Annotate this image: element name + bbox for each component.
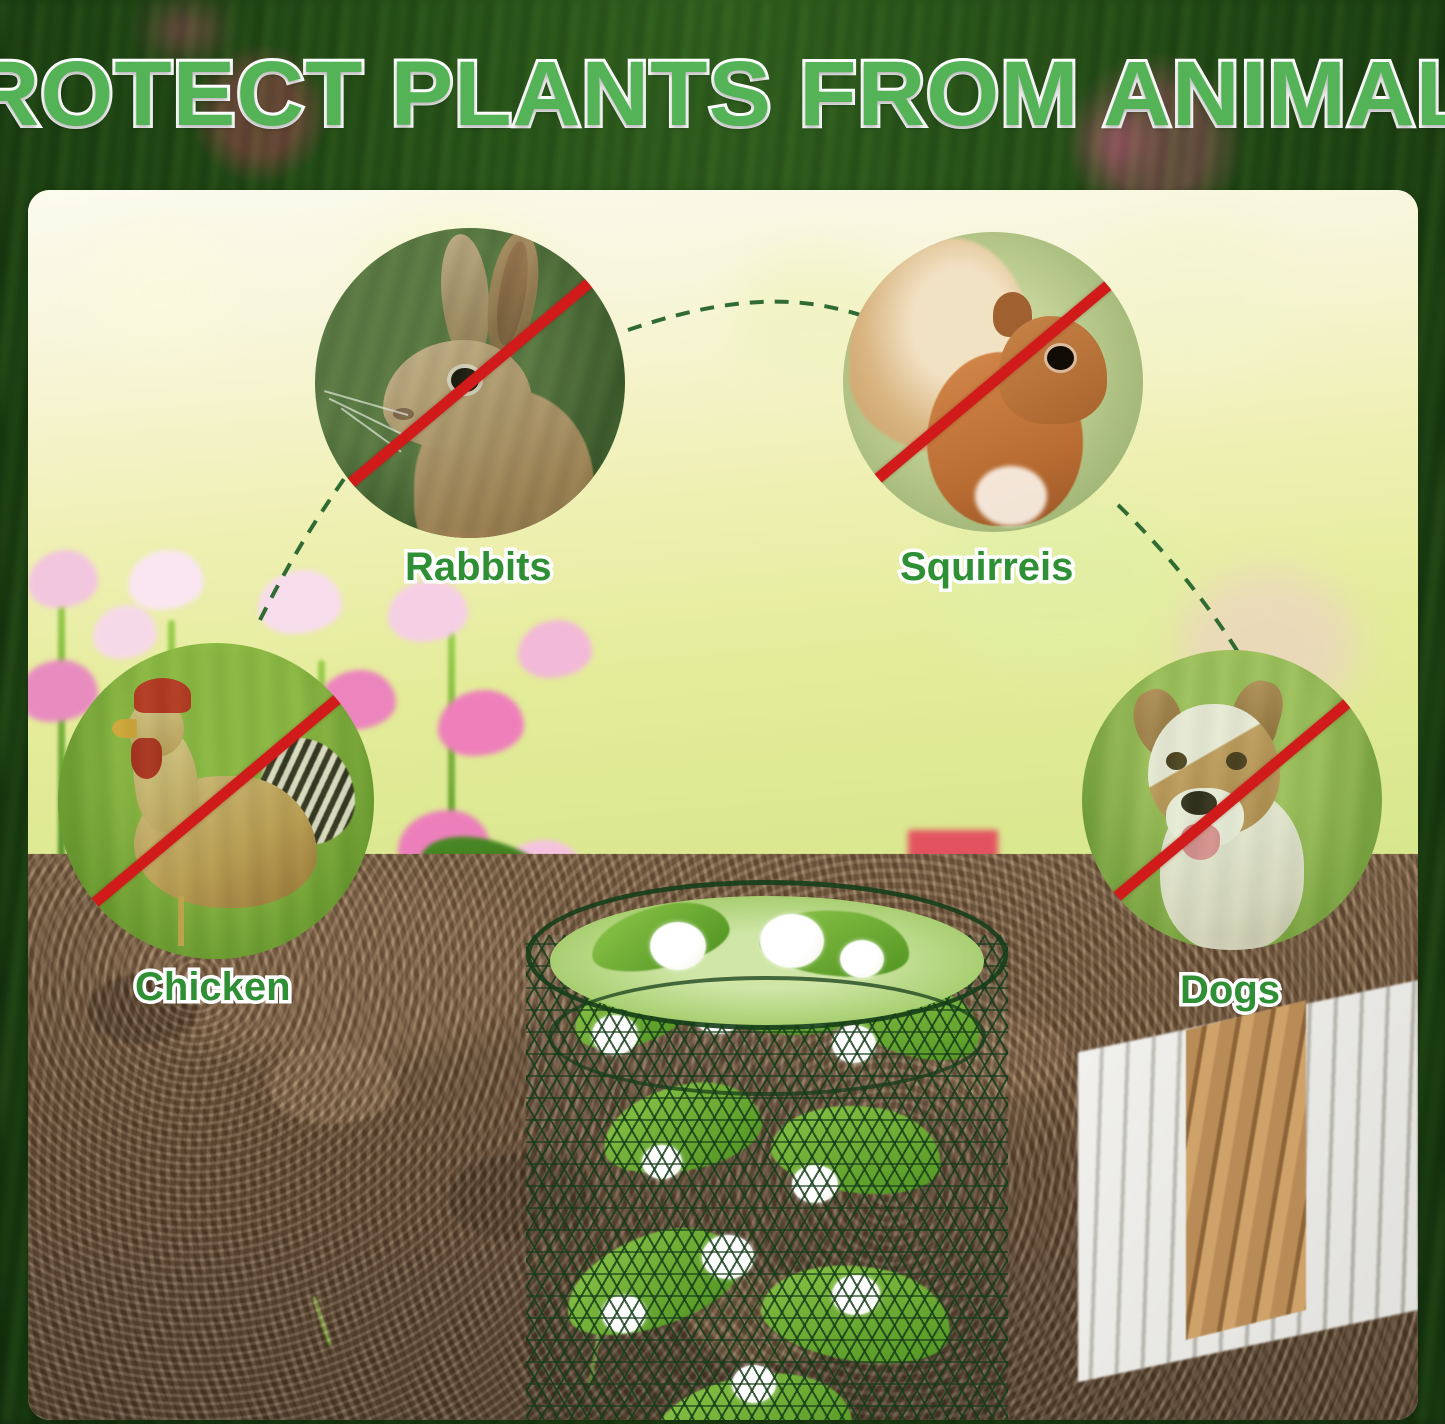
animal-circle-squirreis[interactable] [843,232,1143,532]
animal-circle-rabbits[interactable] [315,228,625,538]
animal-circle-dogs[interactable] [1082,650,1382,950]
animal-label-dogs: Dogs [1180,968,1280,1013]
cage-inner-rim [548,976,986,1096]
wooden-bed-edging [1186,1000,1306,1340]
page-title: PROTECT PLANTS FROM ANIMALS [0,48,1445,140]
marketing-image: PROTECT PLANTS FROM ANIMALS [0,0,1445,1424]
animal-label-squirreis: Squirreis [900,545,1073,590]
wire-plant-cage [526,880,1008,1420]
animal-label-chicken: Chicken [135,965,291,1010]
headline-banner: PROTECT PLANTS FROM ANIMALS [0,38,1445,150]
animal-circle-chicken[interactable] [58,643,374,959]
animal-label-rabbits: Rabbits [405,545,552,590]
